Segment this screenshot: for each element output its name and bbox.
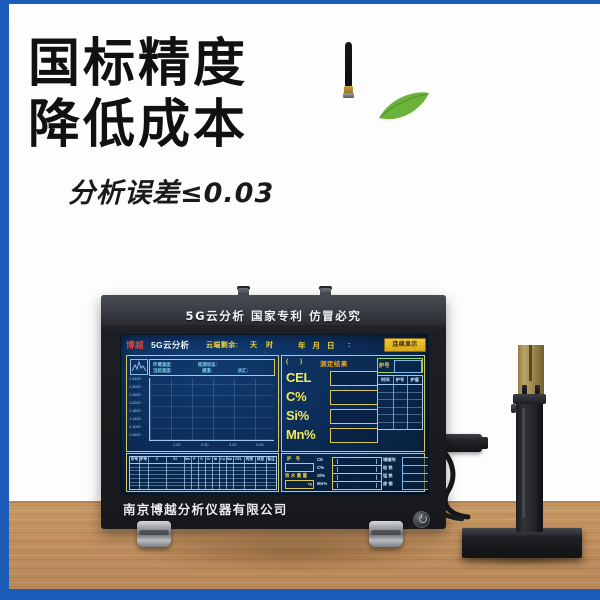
table-col-divider — [205, 457, 206, 489]
alloy-additive-label-ce: 增碳剂 — [383, 457, 396, 463]
table-header-10: Mo — [226, 457, 233, 461]
ctrl-furnace-input[interactable] — [285, 463, 314, 472]
cloud-hours-unit: 时 — [266, 340, 273, 350]
x-tick-3: 4.00 — [256, 442, 264, 447]
results-title: 测定结果 — [320, 358, 348, 368]
info-channel-label: 通道: — [202, 368, 212, 374]
y-tick-5: 1.1400 — [129, 417, 141, 421]
y-tick-6: 1.1000 — [129, 425, 141, 429]
table-col-divider — [212, 457, 213, 489]
range-tick-right-mn — [376, 483, 377, 488]
alloy-calculation-panel: 炉 号 铁水重量 kg CE - 增碳剂 kg — [281, 453, 425, 492]
info-resistance-label: 抗汇: — [238, 368, 248, 374]
table-col-divider — [148, 457, 149, 489]
device-foot-right — [369, 521, 403, 547]
result-value-cel[interactable] — [330, 371, 378, 386]
antenna-nut — [343, 93, 354, 98]
table-header-5: P — [191, 457, 198, 461]
table-header-7: Cr — [205, 457, 212, 461]
range-tick-left-ce — [337, 459, 338, 464]
frame-bottom-border — [0, 589, 600, 600]
range-tick-left-mn — [337, 483, 338, 488]
table-row[interactable] — [130, 478, 276, 479]
table-header-14: 备注 — [266, 457, 276, 462]
control-left-column: 炉 号 铁水重量 kg — [285, 456, 315, 488]
result-value-c[interactable] — [330, 390, 378, 405]
leaf-icon — [376, 90, 432, 124]
alloy-range-mn[interactable]: - — [332, 481, 382, 490]
range-tick-right-ce — [376, 459, 377, 464]
result-label-c: C% — [286, 389, 306, 405]
electrode-slot — [529, 345, 532, 381]
alloy-additive-label-c: 硅 铁 — [383, 465, 393, 471]
alloy-additive-label-si: 锰 铁 — [383, 473, 393, 479]
table-header-0: 序号 — [130, 457, 139, 462]
poster-stage: 国标精度 降低成本 分析误差≤0.03 5G云分析 国家专利 仿冒必究 博越 5… — [0, 0, 600, 600]
table-col-divider — [191, 457, 192, 489]
headline-line-1: 国标精度 — [28, 34, 378, 95]
furnace-number-box[interactable]: 炉号 — [377, 358, 423, 373]
lcd-screen[interactable]: 博越 5G云分析 云端剩余: 天 时 年月日 : 连续显示 环境温度: 检测状态… — [120, 334, 429, 495]
electrode-pin-left — [522, 385, 527, 394]
spectrum-plot-area — [149, 378, 274, 441]
result-label-mn: Mn% — [286, 427, 315, 443]
table-col-divider — [233, 457, 234, 489]
stand-collar — [513, 394, 546, 404]
company-name-label: 南京博越分析仪器有限公司 — [123, 499, 287, 518]
alloy-additive-label-mn: 废 钢 — [383, 481, 393, 487]
y-tick-1: 1.3000 — [129, 385, 141, 389]
range-tick-left-si — [337, 475, 338, 480]
table-header-13: 状态 — [255, 457, 266, 462]
ctrl-iron-weight-input[interactable]: kg — [285, 480, 314, 489]
results-title-paren: ( ) — [286, 358, 307, 365]
table-row[interactable] — [130, 474, 276, 475]
screen-header: 博越 5G云分析 云端剩余: 天 时 年月日 : 连续显示 — [126, 339, 423, 352]
table-header-6: S — [198, 457, 205, 461]
continuous-display-badge[interactable]: 连续显示 — [384, 338, 426, 352]
table-row[interactable] — [130, 467, 276, 468]
table-row[interactable] — [130, 485, 276, 486]
table-col-divider — [166, 457, 167, 489]
table-col-divider — [219, 457, 220, 489]
spectrum-graph-panel: 环境温度: 检测状态: 当前温度: 通道: 抗汇: 1.3400 1.3000 … — [126, 355, 279, 452]
x-tick-2: 3.00 — [229, 442, 237, 447]
table-header-3: Si — [166, 457, 184, 461]
alloy-element-mn: Mn% — [317, 481, 327, 486]
frame-left-border — [0, 0, 9, 600]
stand-column — [516, 398, 543, 532]
cloud-remaining-label: 云端剩余: — [206, 340, 238, 350]
table-col-divider — [255, 457, 256, 489]
table-row[interactable] — [130, 470, 276, 471]
table-header-11: CEL — [233, 457, 244, 461]
y-tick-3: 1.2200 — [129, 401, 141, 405]
table-row[interactable] — [130, 482, 276, 483]
history-row[interactable] — [378, 422, 422, 423]
alloy-element-c: C% — [317, 465, 324, 470]
furnace-number-label: 炉号 — [379, 362, 389, 369]
range-tick-right-si — [376, 475, 377, 480]
table-header-12: 时间 — [244, 457, 255, 462]
ctrl-iron-weight-unit: kg — [308, 482, 312, 486]
ctrl-iron-weight-label: 铁水重量 — [285, 473, 309, 479]
table-header-9: Cu — [219, 457, 226, 461]
date-field-labels: 年月日 — [298, 340, 342, 351]
x-tick-0: 1.00 — [173, 442, 181, 447]
history-row[interactable] — [378, 399, 422, 400]
antenna — [345, 42, 352, 88]
result-history-table[interactable]: 时间炉号炉值 — [377, 375, 423, 430]
y-tick-4: 1.1800 — [129, 409, 141, 413]
result-value-mn[interactable] — [330, 428, 378, 443]
result-label-cel: CEL — [286, 370, 311, 386]
power-icon-stem — [421, 514, 422, 518]
alloy-range-dash-si: - — [356, 475, 357, 480]
power-icon — [419, 515, 427, 523]
history-header-1: 炉号 — [393, 377, 408, 383]
table-col-divider — [226, 457, 227, 489]
headline-line-2: 降低成本 — [28, 95, 378, 156]
history-row[interactable] — [378, 407, 422, 408]
history-row[interactable] — [378, 392, 422, 393]
measurement-history-table[interactable]: 序号炉号CSiMnPSCrNiCuMoCEL时间状态备注 — [129, 456, 277, 490]
status-info-box: 环境温度: 检测状态: 当前温度: 通道: 抗汇: — [149, 359, 275, 376]
range-tick-right-c — [376, 467, 377, 472]
result-label-si: Si% — [286, 408, 309, 424]
table-col-divider — [139, 457, 140, 489]
table-header-1: 炉号 — [139, 457, 148, 462]
ctrl-furnace-label: 炉 号 — [287, 456, 302, 462]
range-tick-left-c — [337, 467, 338, 472]
alloy-range-dash-mn: - — [356, 483, 357, 488]
frame-top-border — [0, 0, 600, 4]
table-header-4: Mn — [184, 457, 191, 461]
stand-column-highlight — [522, 408, 525, 518]
brand-name-product: 5G云分析 — [151, 339, 189, 351]
measurement-history-table-panel[interactable]: 序号炉号CSiMnPSCrNiCuMoCEL时间状态备注 — [126, 453, 279, 492]
table-col-divider — [244, 457, 245, 489]
history-header-2: 炉值 — [407, 377, 422, 383]
alloy-element-si: Si% — [317, 473, 325, 478]
analyzer-device: 5G云分析 国家专利 仿冒必究 博越 5G云分析 云端剩余: 天 时 年月日 :… — [101, 295, 446, 529]
table-col-divider — [184, 457, 185, 489]
result-value-si[interactable] — [330, 409, 378, 424]
measurement-results-panel: ( ) 测定结果 CEL C% Si% Mn% — [281, 355, 425, 452]
x-tick-1: 2.00 — [201, 442, 209, 447]
headline-block: 国标精度 降低成本 分析误差≤0.03 — [28, 34, 378, 210]
waveform-icon — [130, 359, 148, 375]
electrode-pin-right — [535, 385, 540, 394]
history-row[interactable] — [378, 414, 422, 415]
electrode-holder — [518, 345, 544, 395]
alloy-range-dash-ce: - — [356, 459, 357, 464]
time-colon: : — [348, 340, 351, 349]
device-foot-left — [137, 521, 171, 547]
alloy-range-dash-c: - — [356, 467, 357, 472]
stand-adjust-knob[interactable] — [511, 404, 516, 413]
device-shadow — [129, 531, 459, 571]
brand-name-cn: 博越 — [126, 339, 144, 351]
info-current-temp-label: 当前温度: — [153, 368, 172, 374]
alloy-element-ce: CE — [317, 457, 323, 462]
y-tick-0: 1.3400 — [129, 377, 141, 381]
alloy-additive-value-mn[interactable]: kg — [402, 481, 429, 490]
table-col-divider — [266, 457, 267, 489]
table-header-8: Ni — [212, 457, 219, 461]
device-top-banner: 5G云分析 国家专利 仿冒必究 — [101, 308, 446, 324]
y-tick-2: 1.2600 — [129, 393, 141, 397]
table-col-divider — [198, 457, 199, 489]
cloud-days-unit: 天 — [250, 340, 257, 350]
y-tick-7: 1.0600 — [129, 433, 141, 437]
headline-subtitle: 分析误差≤0.03 — [68, 171, 378, 210]
stand-base — [462, 528, 582, 558]
table-header-2: C — [148, 457, 166, 461]
history-header-0: 时间 — [378, 377, 393, 383]
probe-arm-tip — [478, 437, 488, 449]
power-button[interactable] — [413, 511, 430, 528]
furnace-number-input[interactable] — [394, 360, 422, 373]
